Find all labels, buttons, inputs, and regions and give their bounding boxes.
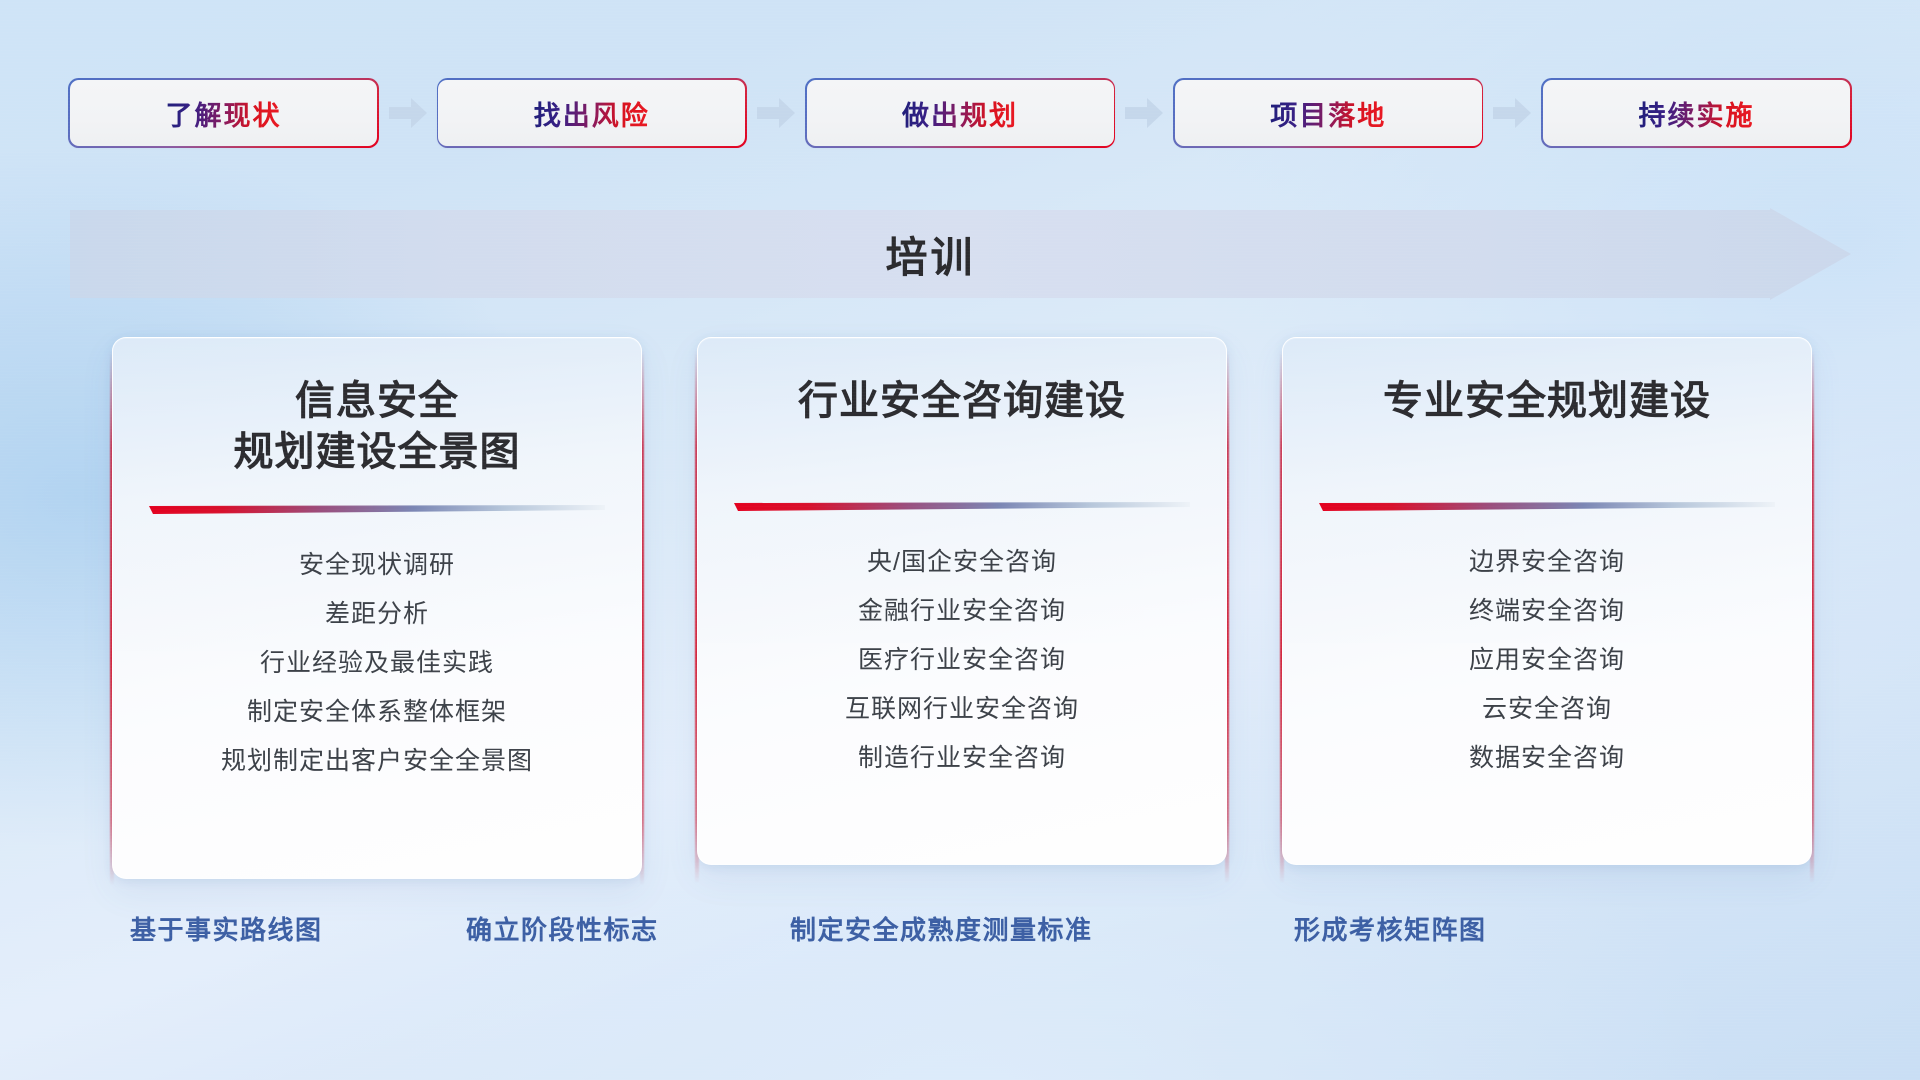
list-item: 应用安全咨询 <box>1313 636 1781 685</box>
process-step-4[interactable]: 项目落地 <box>1175 80 1482 146</box>
list-item: 行业经验及最佳实践 <box>143 639 611 688</box>
card-item-list: 安全现状调研 差距分析 行业经验及最佳实践 制定安全体系整体框架 规划制定出客户… <box>143 541 611 786</box>
cards-row: 信息安全 规划建设全景图 <box>112 337 1812 877</box>
list-item: 互联网行业安全咨询 <box>728 685 1196 734</box>
process-step-2[interactable]: 找出风险 <box>438 80 745 146</box>
list-item: 数据安全咨询 <box>1313 734 1781 783</box>
bottom-label-1: 基于事实路线图 <box>130 910 323 947</box>
list-item: 差距分析 <box>143 590 611 639</box>
card-1[interactable]: 信息安全 规划建设全景图 <box>112 337 642 877</box>
card-2[interactable]: 行业安全咨询建设 <box>697 337 1227 877</box>
process-step-5[interactable]: 持续实施 <box>1543 80 1850 146</box>
list-item: 医疗行业安全咨询 <box>728 636 1196 685</box>
process-step-3[interactable]: 做出规划 <box>807 80 1114 146</box>
list-item: 金融行业安全咨询 <box>728 587 1196 636</box>
card-title: 行业安全咨询建设 <box>798 376 1126 427</box>
process-step-1[interactable]: 了解现状 <box>70 80 377 146</box>
card-3[interactable]: 专业安全规划建设 <box>1282 337 1812 877</box>
process-steps-row: 了解现状 找出风险 做出规划 项目落地 <box>70 78 1850 148</box>
list-item: 规划制定出客户安全全景图 <box>143 737 611 786</box>
training-banner: 培训 <box>70 208 1851 300</box>
list-item: 安全现状调研 <box>143 541 611 590</box>
gradient-divider-icon <box>149 504 605 515</box>
process-step-label: 了解现状 <box>166 94 282 133</box>
step-arrow-1 <box>377 80 438 146</box>
gradient-divider-icon <box>1319 501 1775 512</box>
training-banner-label: 培训 <box>70 208 1851 300</box>
bottom-labels-row: 基于事实路线图 确立阶段性标志 制定安全成熟度测量标准 形成考核矩阵图 <box>0 910 1920 956</box>
card-title: 专业安全规划建设 <box>1383 376 1711 427</box>
step-arrow-4 <box>1482 80 1543 146</box>
list-item: 央/国企安全咨询 <box>728 538 1196 587</box>
list-item: 制造行业安全咨询 <box>728 734 1196 783</box>
list-item: 制定安全体系整体框架 <box>143 688 611 737</box>
process-step-label: 项目落地 <box>1270 94 1386 133</box>
list-item: 边界安全咨询 <box>1313 538 1781 587</box>
card-item-list: 边界安全咨询 终端安全咨询 应用安全咨询 云安全咨询 数据安全咨询 <box>1313 538 1781 783</box>
process-step-label: 持续实施 <box>1639 94 1755 133</box>
slide-canvas: 了解现状 找出风险 做出规划 项目落地 <box>0 0 1920 1080</box>
bottom-label-2: 确立阶段性标志 <box>466 910 659 947</box>
step-arrow-2 <box>745 80 806 146</box>
gradient-divider-icon <box>734 501 1190 512</box>
card-title: 信息安全 规划建设全景图 <box>234 376 521 478</box>
process-step-label: 做出规划 <box>902 94 1018 133</box>
process-step-label: 找出风险 <box>534 94 650 133</box>
bottom-label-3: 制定安全成熟度测量标准 <box>790 910 1093 947</box>
step-arrow-3 <box>1114 80 1175 146</box>
bottom-label-4: 形成考核矩阵图 <box>1294 910 1487 947</box>
card-item-list: 央/国企安全咨询 金融行业安全咨询 医疗行业安全咨询 互联网行业安全咨询 制造行… <box>728 538 1196 783</box>
list-item: 云安全咨询 <box>1313 685 1781 734</box>
list-item: 终端安全咨询 <box>1313 587 1781 636</box>
